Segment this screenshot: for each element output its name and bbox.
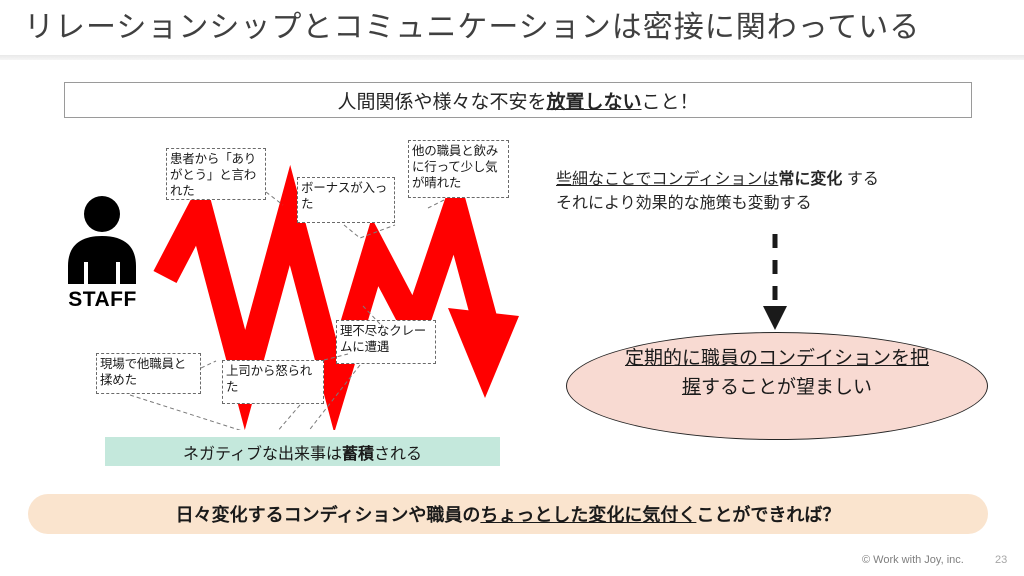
mint-bar-prefix: ネガティブな出来事は: [183, 440, 342, 464]
callout-negative-conflict: 現場で他職員と揉めた: [96, 353, 201, 394]
conclusion-ellipse: 定期的に職員のコンデイションを把握することが望ましい: [566, 332, 988, 440]
ellipse-text: 定期的に職員のコンデイションを把握することが望ましい: [618, 344, 936, 402]
subtitle-prefix: 人間関係や様々な不安を: [337, 87, 546, 114]
closing-question-banner: 日々変化するコンディションや職員のちょっとした変化に気付く ことができれば？: [28, 494, 988, 534]
subtitle-suffix: こと！: [642, 87, 699, 114]
subtitle-emphasis: 放置しない: [546, 87, 641, 114]
accumulation-bar: ネガティブな出来事は蓄積される: [105, 437, 500, 466]
footer-copyright: © Work with Joy, inc.: [862, 554, 964, 566]
right-text-line1-a: 些細なことでコンディションは: [556, 171, 778, 188]
callout-negative-scolded: 上司から怒られた: [222, 360, 324, 404]
title-divider: [0, 55, 1024, 60]
callout-positive-drinks: 他の職員と飲みに行って少し気が晴れた: [408, 140, 509, 198]
peach-banner-emphasis: ちょっとした変化に気付く: [480, 501, 696, 527]
mint-bar-suffix: される: [374, 440, 422, 464]
footer-page-number: 23: [995, 554, 1007, 566]
mint-bar-emphasis: 蓄積: [342, 440, 374, 464]
callout-positive-thanks: 患者から「ありがとう」と言われた: [166, 148, 266, 200]
peach-banner-suffix: ことができれば？: [696, 501, 840, 527]
callout-positive-bonus: ボーナスが入った: [297, 177, 395, 223]
ellipse-plain: することが望ま: [701, 377, 834, 398]
right-text-line1-emphasis: 常に変化: [778, 171, 842, 188]
right-text-line-2: それにより効果的な施策も変動する: [556, 192, 986, 216]
ellipse-tail: しい: [834, 377, 872, 398]
peach-banner-prefix: 日々変化するコンディションや職員の: [176, 501, 481, 527]
right-text-line1-c: する: [842, 171, 878, 188]
down-arrow-icon: [755, 232, 795, 332]
slide-canvas: リレーションシップとコミュニケーションは密接に関わっている 人間関係や様々な不安…: [0, 0, 1024, 576]
right-text-line-1: 些細なことでコンディションは常に変化 する: [556, 168, 986, 192]
subtitle-banner: 人間関係や様々な不安を放置しないこと！: [64, 82, 972, 118]
page-title: リレーションシップとコミュニケーションは密接に関わっている: [24, 8, 984, 48]
right-body-text: 些細なことでコンディションは常に変化 する それにより効果的な施策も変動する: [556, 168, 986, 216]
callout-negative-claim: 理不尽なクレームに遭遇: [336, 320, 436, 364]
ellipse-underlined-1: 定期的に職員のコンデイ: [625, 348, 834, 369]
